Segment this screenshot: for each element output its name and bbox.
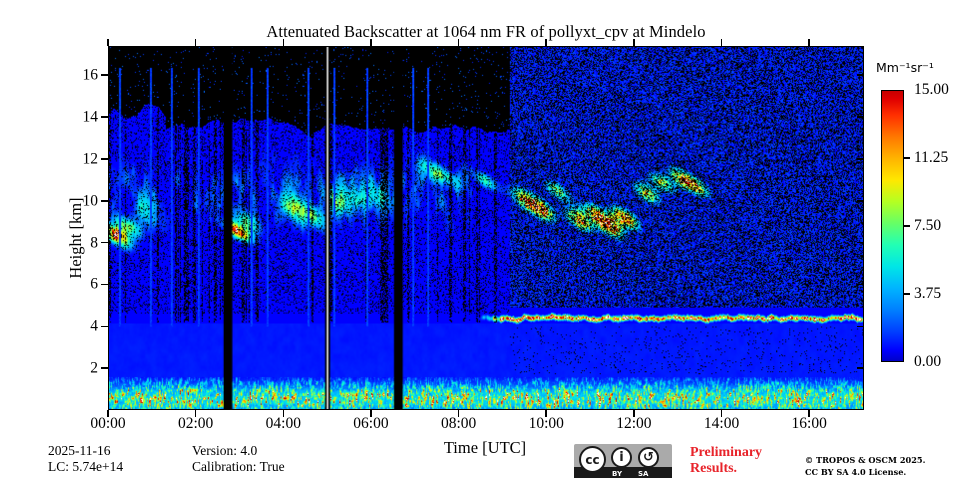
x-tick-label: 00:00 <box>68 416 148 432</box>
cc-sa-label: SA <box>638 470 648 478</box>
x-tick-label: 16:00 <box>769 416 849 432</box>
creative-commons-badge[interactable]: cc i ↺ BY SA <box>574 444 672 478</box>
footer-date: 2025-11-16 <box>48 443 111 459</box>
x-tick-mark-top <box>370 39 372 46</box>
y-tick-mark-right <box>857 200 864 202</box>
cc-icon: cc <box>579 446 606 473</box>
y-tick-mark <box>101 367 108 369</box>
x-tick-mark-top <box>808 39 810 46</box>
x-tick-mark-top <box>458 39 460 46</box>
x-tick-mark-top <box>195 39 197 46</box>
x-tick-mark-top <box>283 39 285 46</box>
preliminary-line-1: Preliminary <box>690 445 762 461</box>
y-tick-label: 2 <box>54 360 98 376</box>
x-tick-mark-top <box>107 39 109 46</box>
x-tick-label: 12:00 <box>594 416 674 432</box>
y-tick-mark-right <box>857 74 864 76</box>
copyright-line-1: © TROPOS & OSCM 2025. <box>805 455 925 467</box>
colorbar-tick-label: 3.75 <box>914 285 941 303</box>
preliminary-results-note: Preliminary Results. <box>690 445 762 476</box>
footer-version: Version: 4.0 <box>192 443 257 459</box>
x-axis-title: Time [UTC] <box>360 438 610 458</box>
x-tick-label: 08:00 <box>419 416 499 432</box>
y-tick-mark-right <box>857 158 864 160</box>
colorbar-tick-label: 0.00 <box>914 353 941 371</box>
y-tick-mark <box>101 200 108 202</box>
y-tick-mark <box>101 326 108 328</box>
preliminary-line-2: Results. <box>690 461 762 477</box>
y-tick-label: 14 <box>54 109 98 125</box>
cc-by-label: BY <box>612 470 622 478</box>
colorbar-tick-mark <box>904 293 910 295</box>
y-tick-mark <box>101 158 108 160</box>
x-tick-mark-top <box>721 39 723 46</box>
footer-lidar-constant: LC: 5.74e+14 <box>48 459 123 475</box>
y-tick-mark-right <box>857 116 864 118</box>
y-axis-title: Height [km] <box>66 158 86 318</box>
x-tick-label: 14:00 <box>682 416 762 432</box>
heatmap-plot-area <box>108 46 864 410</box>
cc-by-icon: i <box>611 447 632 468</box>
x-tick-label: 02:00 <box>156 416 236 432</box>
y-tick-mark-right <box>857 326 864 328</box>
colorbar-tick-label: 7.50 <box>914 217 941 235</box>
footer-calibration: Calibration: True <box>192 459 285 475</box>
y-tick-mark-right <box>857 242 864 244</box>
colorbar-tick-mark <box>904 157 910 159</box>
x-tick-mark-top <box>633 39 635 46</box>
y-tick-mark <box>101 284 108 286</box>
x-tick-label: 10:00 <box>506 416 586 432</box>
copyright-line-2: CC BY SA 4.0 License. <box>805 467 925 479</box>
colorbar-tick-label: 11.25 <box>914 149 948 167</box>
y-tick-mark <box>101 116 108 118</box>
backscatter-heatmap-canvas <box>109 47 863 409</box>
y-tick-label: 4 <box>54 319 98 335</box>
page-title: Attenuated Backscatter at 1064 nm FR of … <box>108 22 864 42</box>
x-tick-label: 06:00 <box>331 416 411 432</box>
y-tick-mark-right <box>857 367 864 369</box>
cc-sa-icon: ↺ <box>638 447 659 468</box>
x-tick-label: 04:00 <box>243 416 323 432</box>
colorbar-tick-mark <box>904 225 910 227</box>
copyright-note: © TROPOS & OSCM 2025. CC BY SA 4.0 Licen… <box>805 455 925 479</box>
y-tick-label: 16 <box>54 68 98 84</box>
y-tick-mark <box>101 242 108 244</box>
y-tick-mark <box>101 74 108 76</box>
colorbar-gradient <box>881 90 904 362</box>
colorbar-tick-label: 15.00 <box>914 81 949 99</box>
x-tick-mark-top <box>545 39 547 46</box>
colorbar-units-label: Mm⁻¹sr⁻¹ <box>876 60 934 75</box>
lidar-quicklook-figure: Attenuated Backscatter at 1064 nm FR of … <box>0 0 960 480</box>
y-tick-mark-right <box>857 284 864 286</box>
